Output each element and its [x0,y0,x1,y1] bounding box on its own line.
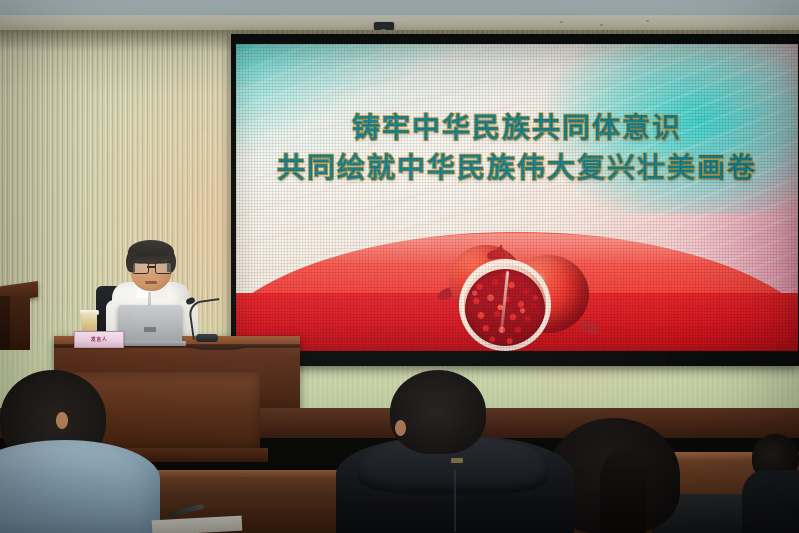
microphone-cable [188,340,248,350]
pomegranate-cut-open [459,259,551,351]
audience-member-left-ear [56,412,68,429]
slide-title-block: 铸牢中华民族共同体意识 共同绘就中华民族伟大复兴壮美画卷 [236,110,798,187]
pomegranate-cut-rim [459,259,551,351]
pomegranate-group [429,243,609,351]
laptop-logo [144,327,156,332]
audience-jacket-seam [454,470,456,532]
glasses-lens-left-icon [132,262,149,274]
tea-cup [82,313,97,333]
slide-title-line-1: 铸牢中华民族共同体意识 [236,110,798,146]
audience-jacket-tag [451,458,463,463]
lectern-shadow [0,296,10,350]
glasses-bridge [147,266,155,268]
audience-member-center-ear [395,420,406,436]
laptop-screen [118,305,182,343]
audience-right-hair [600,450,646,533]
speaker-nameplate-text: 发言人 [91,336,108,343]
led-screen: 铸牢中华民族共同体意识 共同绘就中华民族伟大复兴壮美画卷 [236,44,798,351]
audience-member-far-right-body [742,470,799,533]
speaker-mouth [145,281,157,284]
audience-member-left-body [0,440,160,533]
conference-hall-photo: 铸牢中华民族共同体意识 共同绘就中华民族伟大复兴壮美画卷 [0,0,799,533]
slide-red-ribbon-band [236,223,798,351]
audience-member-center-head [390,370,486,454]
glasses-lens-right-icon [155,262,172,274]
laptop-base [114,341,186,346]
pomegranate-crown-right [578,318,603,336]
slide-title-line-2: 共同绘就中华民族伟大复兴壮美画卷 [236,150,798,186]
speaker-nameplate: 发言人 [74,331,124,348]
